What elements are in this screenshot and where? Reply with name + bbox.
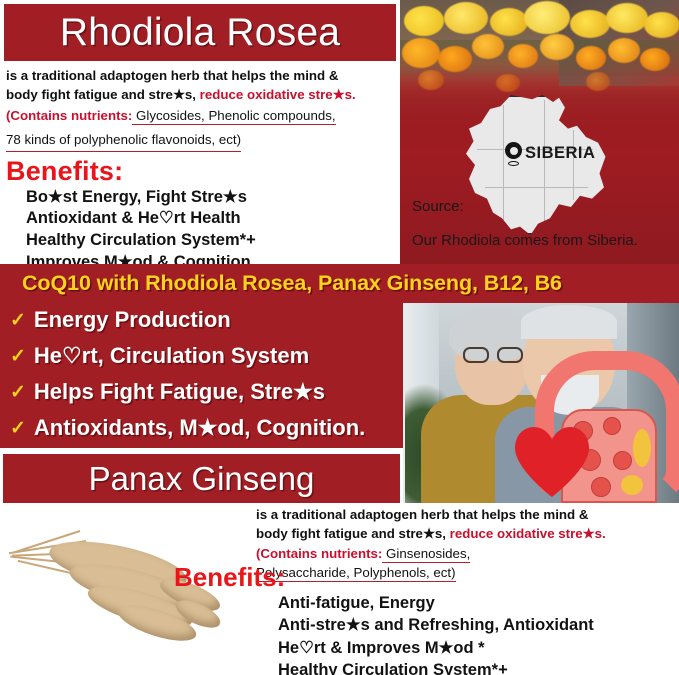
panax-benefits-heading: Benefits:: [174, 562, 285, 593]
list-item: Bo★st Energy, Fight Stre★s: [26, 187, 400, 209]
siberia-pin-label: SIBERIA: [525, 144, 595, 163]
map-border-lines: [462, 97, 608, 233]
source-text: Our Rhodiola comes from Siberia.: [412, 232, 638, 249]
siberia-source-section: SIBERIA Source: Our Rhodiola comes from …: [400, 0, 679, 264]
rhodiola-nutrients-line: (Contains nutrients: Glycosides, Phenoli…: [6, 107, 396, 126]
product-benefit-list: ✓ Energy Production ✓ He♡rt, Circulation…: [10, 302, 410, 446]
siberia-map-shape: [460, 95, 610, 235]
rhodiola-benefits-heading: Benefits:: [6, 156, 400, 187]
check-icon: ✓: [10, 345, 26, 368]
list-item: Antioxidant & He♡rt Health: [26, 208, 400, 230]
check-icon: ✓: [10, 381, 26, 404]
list-item: ✓ Helps Fight Fatigue, Stre★s: [10, 374, 410, 410]
rhodiola-flowers-image: [400, 0, 679, 92]
rhodiola-nutrients-line2: 78 kinds of polyphenolic flavonoids, ect…: [6, 131, 241, 152]
rhodiola-description: is a traditional adaptogen herb that hel…: [0, 61, 400, 152]
list-item: ✓ Antioxidants, M★od, Cognition.: [10, 410, 410, 446]
list-item-label: Antioxidants, M★od, Cognition.: [34, 415, 365, 441]
rhodiola-nutrients-line2-wrap: 78 kinds of polyphenolic flavonoids, ect…: [6, 126, 396, 152]
list-item-label: Energy Production: [34, 307, 231, 333]
panax-nutrients-line2-wrap: Polysaccharide, Polyphenols, ect): [256, 561, 676, 582]
eyeglasses-icon: [463, 347, 525, 363]
rhodiola-nutrients-value: Glycosides, Phenolic compounds,: [132, 108, 335, 125]
rhodiola-section: Rhodiola Rosea is a traditional adaptoge…: [0, 0, 400, 264]
check-icon: ✓: [10, 417, 26, 440]
list-item: He♡rt & Improves M★od *: [278, 637, 594, 659]
panax-nutrients-line: (Contains nutrients: Ginsenosides,: [256, 546, 676, 561]
location-pin-icon: [505, 142, 522, 165]
panax-title: Panax Ginseng: [3, 454, 400, 503]
product-claims-section: CoQ10 with Rhodiola Rosea, Panax Ginseng…: [0, 264, 679, 448]
rhodiola-title-wrap: Rhodiola Rosea: [0, 0, 400, 61]
rhodiola-desc-line2-black: body fight fatigue and stre★s,: [6, 87, 200, 102]
list-item: Healthy Circulation System*+: [26, 230, 400, 252]
panax-nutrients-line2: Polysaccharide, Polyphenols, ect): [256, 565, 456, 582]
panax-nutrients-value: Ginsenosides,: [382, 546, 470, 563]
list-item: Anti-fatigue, Energy: [278, 592, 594, 614]
siberia-pin-group: SIBERIA: [505, 142, 595, 165]
rhodiola-desc-line2-red: reduce oxidative stre★s.: [200, 87, 356, 102]
list-item: Healthy Circulation System*+: [278, 659, 594, 675]
panax-nutrients-label: (Contains nutrients:: [256, 546, 382, 561]
panax-desc-line2-red: reduce oxidative stre★s.: [450, 526, 606, 541]
panax-desc-line2-black: body fight fatigue and stre★s,: [256, 526, 450, 541]
check-icon: ✓: [10, 309, 26, 332]
panax-title-wrap: Panax Ginseng: [0, 451, 403, 506]
source-label: Source:: [412, 198, 464, 215]
rhodiola-nutrients-label: (Contains nutrients:: [6, 108, 132, 123]
rhodiola-desc-line1: is a traditional adaptogen herb that hel…: [6, 67, 396, 86]
rhodiola-benefits-list: Bo★st Energy, Fight Stre★s Antioxidant &…: [26, 187, 400, 275]
rhodiola-desc-line2: body fight fatigue and stre★s, reduce ox…: [6, 86, 396, 105]
rhodiola-title: Rhodiola Rosea: [4, 4, 396, 61]
panax-description: is a traditional adaptogen herb that hel…: [256, 505, 676, 582]
product-infographic: Rhodiola Rosea is a traditional adaptoge…: [0, 0, 679, 675]
list-item: ✓ Energy Production: [10, 302, 410, 338]
product-title: CoQ10 with Rhodiola Rosea, Panax Ginseng…: [22, 271, 562, 296]
panax-desc-line1: is a traditional adaptogen herb that hel…: [256, 505, 676, 524]
list-item-label: He♡rt, Circulation System: [34, 343, 309, 369]
panax-desc-line2: body fight fatigue and stre★s, reduce ox…: [256, 524, 676, 543]
man-hair: [521, 305, 617, 339]
list-item: ✓ He♡rt, Circulation System: [10, 338, 410, 374]
list-item: Anti-stre★s and Refreshing, Antioxidant: [278, 614, 594, 636]
list-item-label: Helps Fight Fatigue, Stre★s: [34, 379, 325, 405]
senior-couple-photo: [403, 303, 679, 503]
panax-benefits-list: Anti-fatigue, Energy Anti-stre★s and Ref…: [278, 592, 594, 675]
